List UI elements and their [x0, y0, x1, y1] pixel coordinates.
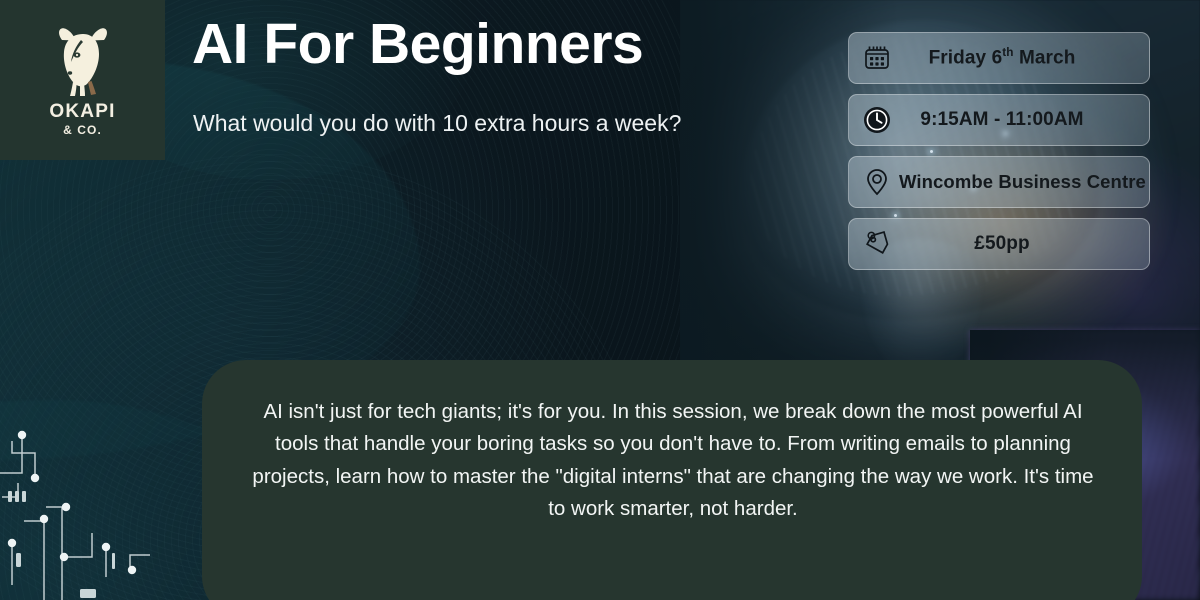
detail-time-label: 9:15AM - 11:00AM [899, 109, 1149, 131]
location-pin-icon [855, 168, 899, 196]
detail-price[interactable]: £50pp [848, 218, 1150, 270]
price-tag-icon [855, 229, 899, 259]
okapi-head-icon [50, 24, 116, 98]
description-text: AI isn't just for tech giants; it's for … [244, 396, 1102, 526]
detail-location[interactable]: Wincombe Business Centre [848, 156, 1150, 208]
circuit-trace-decoration [0, 425, 210, 600]
description-card: AI isn't just for tech giants; it's for … [202, 360, 1142, 600]
detail-date[interactable]: Friday 6th March [848, 32, 1150, 84]
detail-time[interactable]: 9:15AM - 11:00AM [848, 94, 1150, 146]
brand-logo: OKAPI & CO. [0, 0, 165, 160]
event-details-list: Friday 6th March 9:15AM - 11:00AM Wincom… [848, 32, 1150, 270]
detail-price-label: £50pp [899, 233, 1149, 255]
calendar-icon [855, 44, 899, 72]
page-title: AI For Beginners [192, 14, 643, 76]
detail-location-label: Wincombe Business Centre [899, 171, 1150, 193]
brand-suffix: & CO. [63, 124, 102, 136]
event-banner: OKAPI & CO. AI For Beginners What would … [0, 0, 1200, 600]
brand-name: OKAPI [49, 102, 115, 121]
page-subtitle: What would you do with 10 extra hours a … [193, 108, 713, 140]
detail-date-label: Friday 6th March [899, 46, 1149, 69]
clock-icon [855, 105, 899, 135]
